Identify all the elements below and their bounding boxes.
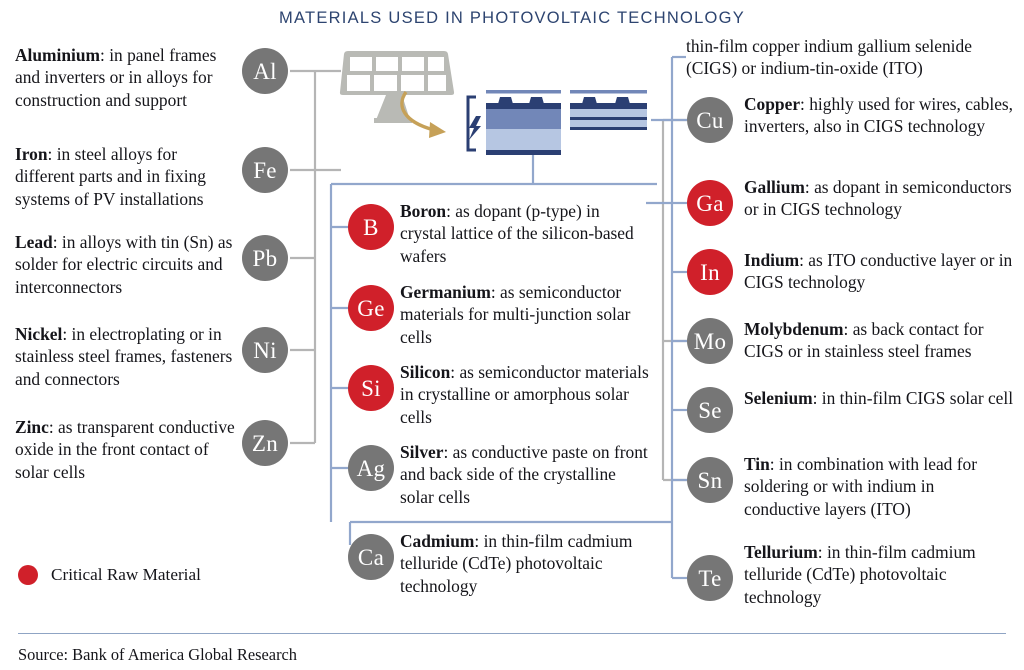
element-symbol: Ge bbox=[357, 297, 384, 320]
legend-label: Critical Raw Material bbox=[51, 565, 201, 585]
material-name: Silver bbox=[400, 442, 443, 462]
material-name: Cadmium bbox=[400, 531, 474, 551]
material-entry-silver: Silver: as conductive paste on front and… bbox=[400, 441, 650, 508]
material-entry-germanium: Germanium: as semiconductor materials fo… bbox=[400, 281, 650, 348]
material-name: Aluminium bbox=[15, 45, 100, 65]
material-name: Zinc bbox=[15, 417, 49, 437]
element-circle-mo[interactable]: Mo bbox=[687, 318, 733, 364]
element-symbol: Ag bbox=[357, 457, 386, 480]
crystalline-cell-diagram bbox=[486, 90, 561, 155]
material-name: Tellurium bbox=[744, 542, 818, 562]
critical-raw-material-dot-icon bbox=[18, 565, 38, 585]
element-circle-ag[interactable]: Ag bbox=[348, 445, 394, 491]
element-circle-si[interactable]: Si bbox=[348, 365, 394, 411]
material-name: Silicon bbox=[400, 362, 450, 382]
element-symbol: In bbox=[700, 261, 720, 284]
material-entry-cadmium: Cadmium: in thin-film cadmium telluride … bbox=[400, 530, 650, 597]
material-entry-iron: Iron: in steel alloys for different part… bbox=[15, 143, 237, 210]
material-entry-lead: Lead: in alloys with tin (Sn) as solder … bbox=[15, 231, 237, 298]
material-entry-molybdenum: Molybdenum: as back contact for CIGS or … bbox=[744, 318, 1014, 363]
thin-film-cell-diagram bbox=[570, 90, 647, 130]
element-symbol: Al bbox=[253, 60, 277, 83]
element-symbol: Cu bbox=[696, 109, 723, 132]
element-symbol: B bbox=[363, 216, 379, 239]
footer-divider bbox=[18, 633, 1006, 634]
element-symbol: Se bbox=[698, 399, 722, 422]
element-symbol: Sn bbox=[698, 469, 723, 492]
material-entry-zinc: Zinc: as transparent conductive oxide in… bbox=[15, 416, 237, 483]
material-name: Gallium bbox=[744, 177, 805, 197]
material-name: Nickel bbox=[15, 324, 62, 344]
element-symbol: Ca bbox=[358, 546, 384, 569]
element-symbol: Si bbox=[361, 377, 381, 400]
material-entry-tin: Tin: in combination with lead for solder… bbox=[744, 453, 1014, 520]
element-circle-zn[interactable]: Zn bbox=[242, 420, 288, 466]
material-name: Tin bbox=[744, 454, 770, 474]
material-entry-indium: Indium: as ITO conductive layer or in CI… bbox=[744, 249, 1014, 294]
material-name: Indium bbox=[744, 250, 799, 270]
source-note: Source: Bank of America Global Research bbox=[18, 645, 297, 665]
element-symbol: Zn bbox=[252, 432, 278, 455]
element-symbol: Pb bbox=[253, 247, 278, 270]
element-circle-pb[interactable]: Pb bbox=[242, 235, 288, 281]
element-circle-b[interactable]: B bbox=[348, 204, 394, 250]
material-name: Boron bbox=[400, 201, 446, 221]
material-description: : in combination with lead for soldering… bbox=[744, 454, 977, 519]
element-symbol: Fe bbox=[253, 159, 277, 182]
element-symbol: Mo bbox=[694, 330, 727, 353]
cell-bracket-icon bbox=[468, 97, 481, 150]
element-circle-fe[interactable]: Fe bbox=[242, 147, 288, 193]
material-name: Copper bbox=[744, 94, 800, 114]
element-symbol: Ga bbox=[696, 192, 723, 215]
element-circle-sn[interactable]: Sn bbox=[687, 457, 733, 503]
element-symbol: Ni bbox=[253, 339, 277, 362]
material-description: : in thin-film CIGS solar cell bbox=[813, 388, 1013, 408]
material-entry-boron: Boron: as dopant (p-type) in crystal lat… bbox=[400, 200, 650, 267]
element-circle-cu[interactable]: Cu bbox=[687, 97, 733, 143]
material-name: Selenium bbox=[744, 388, 813, 408]
element-circle-al[interactable]: Al bbox=[242, 48, 288, 94]
element-circle-ge[interactable]: Ge bbox=[348, 285, 394, 331]
element-circle-ni[interactable]: Ni bbox=[242, 327, 288, 373]
material-name: Molybdenum bbox=[744, 319, 844, 339]
material-entry-copper: Copper: highly used for wires, cables, i… bbox=[744, 93, 1014, 138]
page-title: MATERIALS USED IN PHOTOVOLTAIC TECHNOLOG… bbox=[0, 9, 1024, 28]
material-name: Iron bbox=[15, 144, 48, 164]
material-entry-tellurium: Tellurium: in thin-film cadmium tellurid… bbox=[744, 541, 1014, 608]
thin-film-note: thin-film copper indium gallium selenide… bbox=[686, 35, 1011, 80]
element-circle-ga[interactable]: Ga bbox=[687, 180, 733, 226]
element-circle-ca[interactable]: Ca bbox=[348, 534, 394, 580]
material-entry-gallium: Gallium: as dopant in semiconductors or … bbox=[744, 176, 1014, 221]
solar-panel-icon bbox=[340, 51, 454, 123]
energy-arrow-icon bbox=[402, 92, 446, 138]
element-circle-te[interactable]: Te bbox=[687, 555, 733, 601]
element-circle-se[interactable]: Se bbox=[687, 387, 733, 433]
legend: Critical Raw Material bbox=[18, 565, 201, 585]
photovoltaic-illustration bbox=[330, 40, 660, 200]
element-circle-in[interactable]: In bbox=[687, 249, 733, 295]
material-name: Lead bbox=[15, 232, 53, 252]
material-name: Germanium bbox=[400, 282, 491, 302]
material-entry-selenium: Selenium: in thin-film CIGS solar cell bbox=[744, 387, 1014, 409]
material-entry-nickel: Nickel: in electroplating or in stainles… bbox=[15, 323, 237, 390]
material-entry-silicon: Silicon: as semiconductor materials in c… bbox=[400, 361, 650, 428]
material-entry-aluminium: Aluminium: in panel frames and inverters… bbox=[15, 44, 237, 111]
material-description: : as transparent conductive oxide in the… bbox=[15, 417, 235, 482]
element-symbol: Te bbox=[698, 567, 721, 590]
